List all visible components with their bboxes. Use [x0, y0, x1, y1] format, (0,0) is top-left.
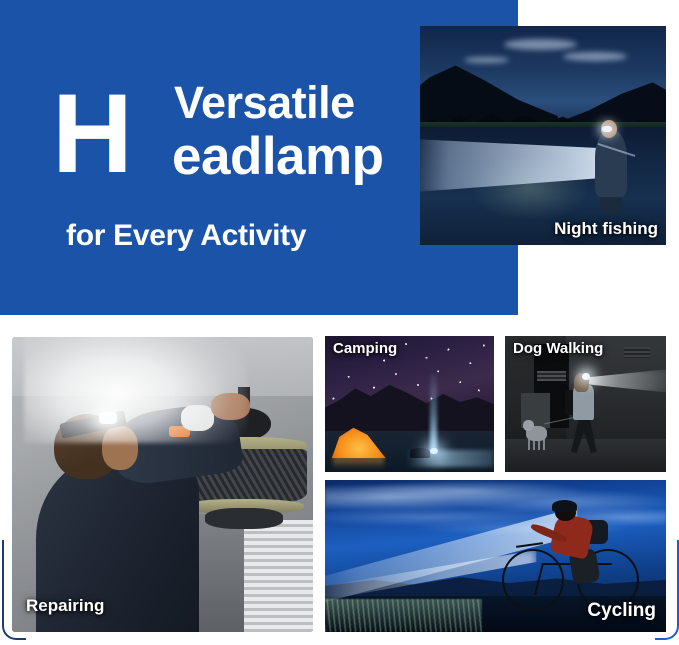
corner-bracket-right: [655, 540, 679, 640]
product-feature-poster: H Versatile eadlamp for Every Activity N…: [0, 0, 679, 645]
wall-grille: [537, 371, 566, 381]
panel-caption-night-fishing: Night fishing: [554, 219, 658, 239]
fan-blade: [205, 508, 283, 529]
corner-bracket-left: [2, 540, 26, 640]
cloud: [464, 57, 508, 64]
night-fishing-scene: [420, 26, 666, 245]
headline-dropcap: H: [52, 78, 131, 190]
panel-night-fishing: Night fishing: [420, 26, 666, 245]
panel-repairing: Repairing: [12, 337, 313, 632]
tent-reflection: [333, 457, 384, 469]
cloud: [563, 52, 627, 61]
panel-camping: Camping: [325, 336, 494, 472]
panel-caption-repairing: Repairing: [26, 596, 104, 616]
cyclist-helmet: [552, 500, 578, 512]
headline-line-top: Versatile: [174, 80, 355, 125]
window-blinds: [235, 520, 313, 632]
panel-cycling: Cycling: [325, 480, 666, 632]
headline-line-bottom: eadlamp: [172, 130, 384, 183]
angler-body: [595, 131, 627, 197]
headlamp-icon: [602, 126, 612, 133]
headline-subtitle: for Every Activity: [66, 219, 306, 253]
headlamp-beam: [24, 337, 247, 443]
panel-caption-dog-walking: Dog Walking: [513, 340, 603, 357]
camper: [410, 448, 430, 459]
panel-caption-camping: Camping: [333, 340, 397, 357]
headline-group: H Versatile eadlamp: [52, 78, 412, 208]
repairing-scene: [12, 337, 313, 632]
panel-caption-cycling: Cycling: [587, 600, 656, 622]
wall-vent: [624, 347, 650, 358]
dog-head: [523, 420, 534, 431]
lit-grass: [325, 599, 482, 632]
panel-dog-walking: Dog Walking: [505, 336, 666, 472]
headlamp-beam: [430, 374, 437, 453]
